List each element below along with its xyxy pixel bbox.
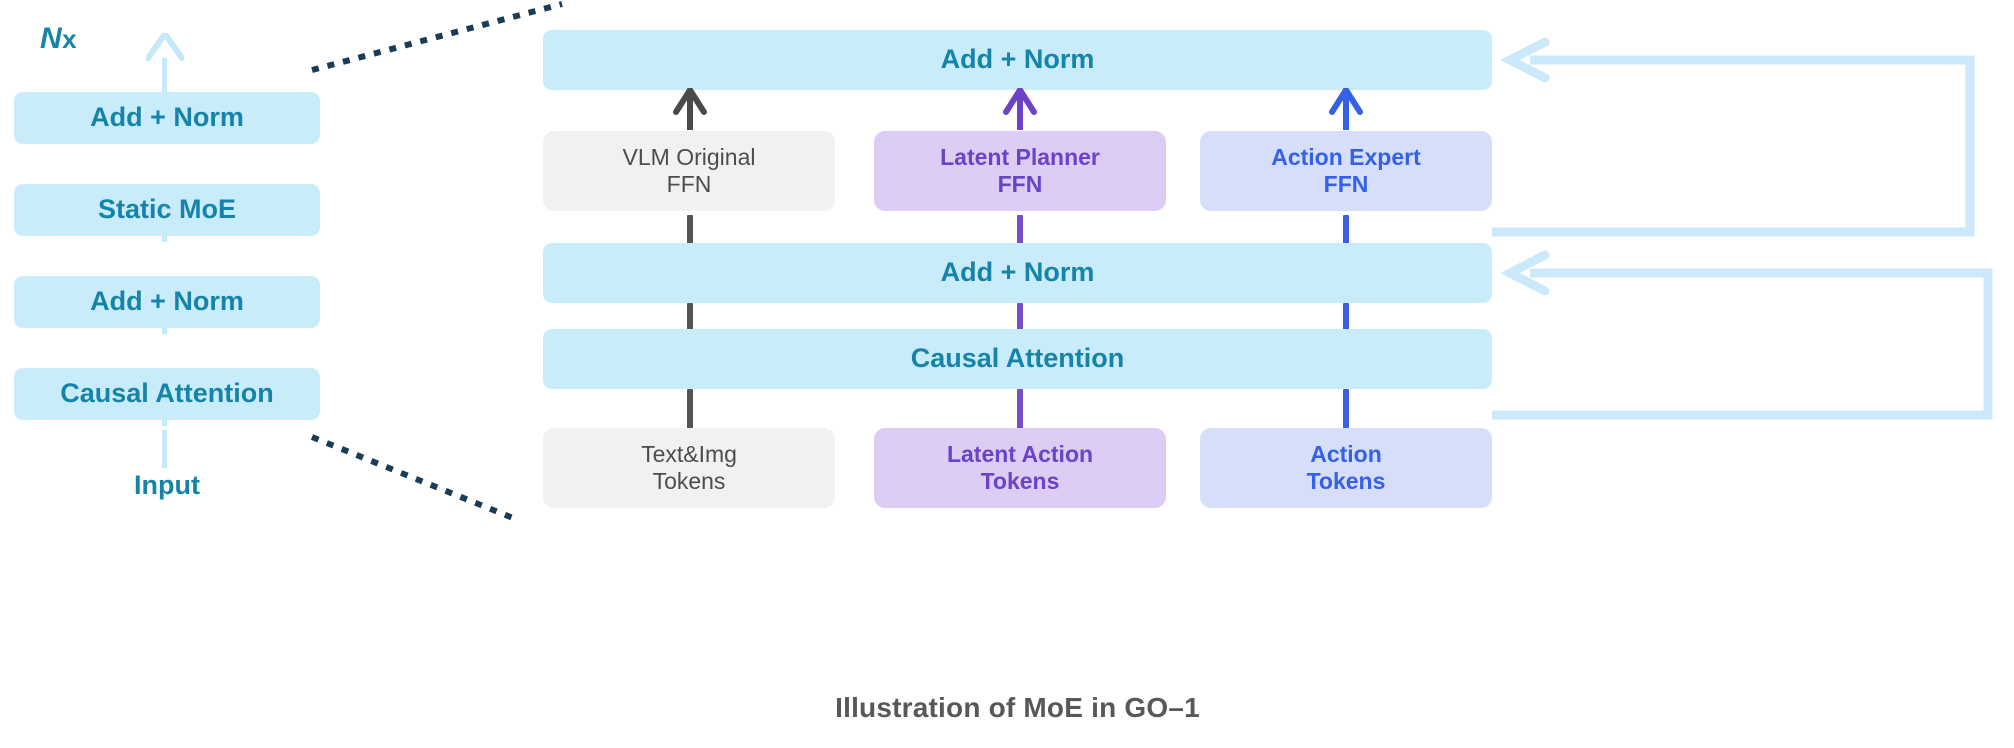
ffn-box-label: VLM Original FFN xyxy=(623,144,756,198)
connector-attention-to-addnorm-vlm xyxy=(687,303,693,331)
right-top-add-norm-bar[interactable]: Add + Norm xyxy=(543,30,1492,90)
ffn-box-vlm-original[interactable]: VLM Original FFN xyxy=(543,131,835,211)
token-box-label: Text&Img Tokens xyxy=(641,441,737,495)
ffn-box-label: Action Expert FFN xyxy=(1271,144,1421,198)
residual-path-lower xyxy=(1492,273,1988,415)
ffn-box-label: Latent Planner FFN xyxy=(940,144,1100,198)
dotted-line-upper xyxy=(312,4,562,70)
figure-caption: Illustration of MoE in GO–1 xyxy=(543,692,1492,724)
connector-attention-to-addnorm-latent xyxy=(1017,303,1023,331)
token-box-action[interactable]: Action Tokens xyxy=(1200,428,1492,508)
bar-label: Add + Norm xyxy=(941,257,1095,289)
ffn-box-action-expert[interactable]: Action Expert FFN xyxy=(1200,131,1492,211)
bar-label: Add + Norm xyxy=(941,44,1095,76)
arrow-up-icon-latent-planner xyxy=(1001,88,1039,130)
connector-tokens-to-attention-latent xyxy=(1017,389,1023,431)
bar-label: Causal Attention xyxy=(911,343,1125,375)
residual-connection-group xyxy=(1470,20,2014,420)
connector-tokens-to-attention-vlm xyxy=(687,389,693,431)
right-middle-add-norm-bar[interactable]: Add + Norm xyxy=(543,243,1492,303)
token-box-label: Action Tokens xyxy=(1307,441,1386,495)
arrow-up-icon-vlm xyxy=(671,88,709,130)
arrow-up-icon-action-expert xyxy=(1327,88,1365,130)
residual-path-upper xyxy=(1492,60,1970,232)
connector-attention-to-addnorm-action xyxy=(1343,303,1349,331)
figure-canvas: Nx Add + Norm Static MoE Add + Norm Caus… xyxy=(0,0,2014,748)
dotted-line-lower xyxy=(312,437,518,520)
connector-tokens-to-attention-action xyxy=(1343,389,1349,431)
right-causal-attention-bar[interactable]: Causal Attention xyxy=(543,329,1492,389)
token-box-latent-action[interactable]: Latent Action Tokens xyxy=(874,428,1166,508)
token-box-label: Latent Action Tokens xyxy=(947,441,1093,495)
ffn-box-latent-planner[interactable]: Latent Planner FFN xyxy=(874,131,1166,211)
token-box-text-img[interactable]: Text&Img Tokens xyxy=(543,428,835,508)
